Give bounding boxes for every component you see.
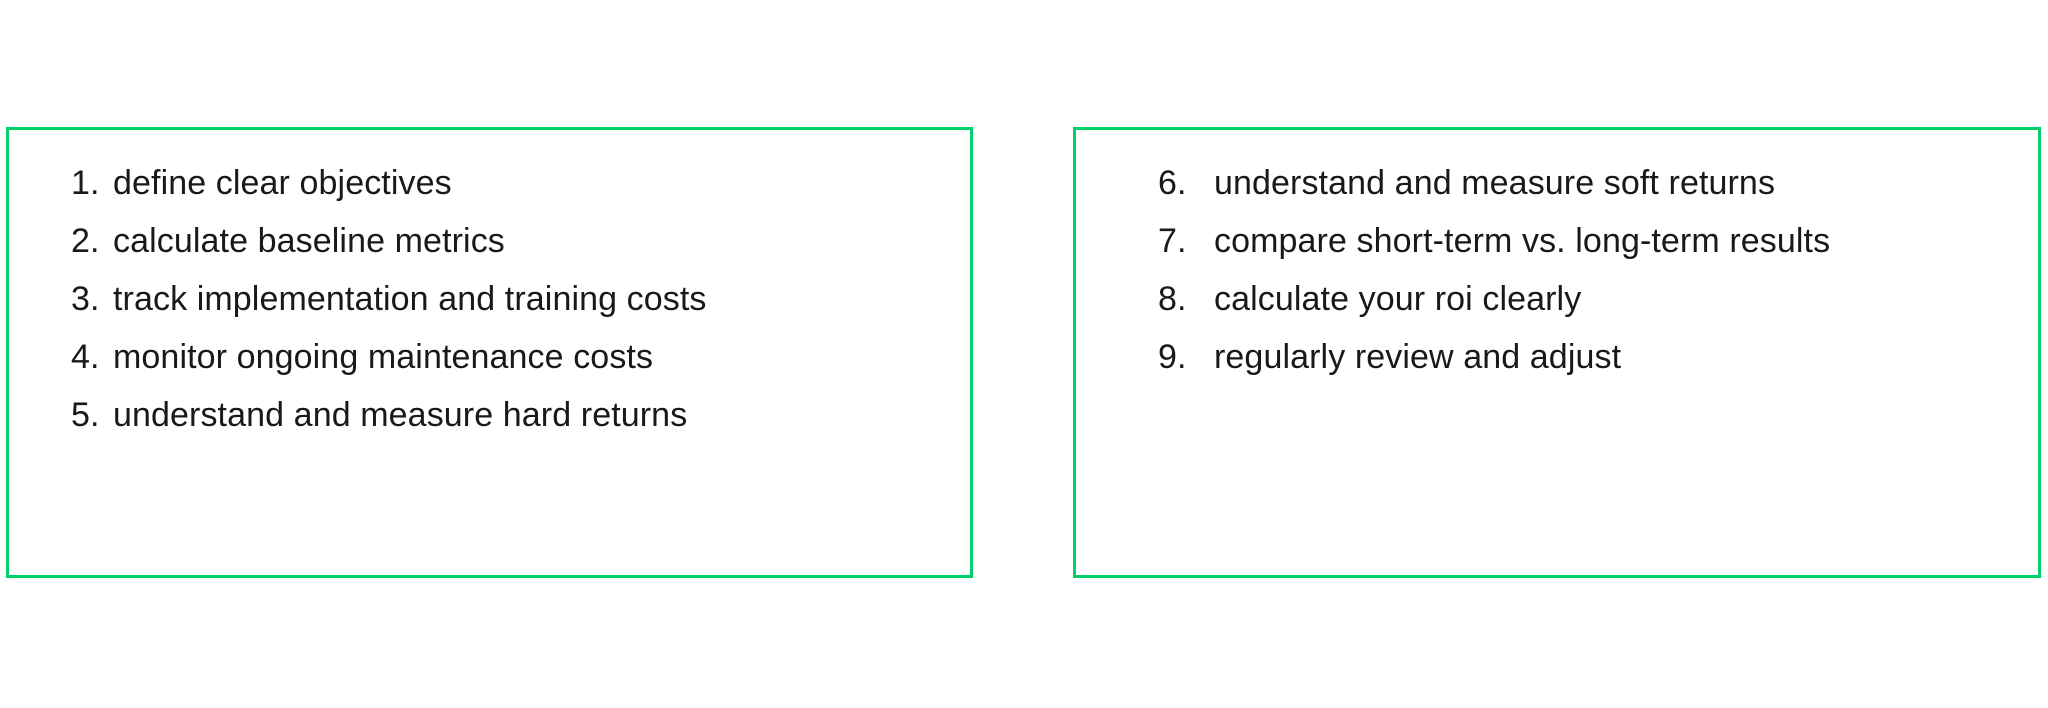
- list-item-text: compare short-term vs. long-term results: [1214, 212, 1938, 270]
- list-item-number: 1.: [71, 154, 113, 212]
- list-item-number: 9.: [1158, 328, 1214, 386]
- list-item-number: 3.: [71, 270, 113, 328]
- list-item: 9. regularly review and adjust: [1158, 328, 2038, 386]
- list-item-number: 7.: [1158, 212, 1214, 270]
- list-item: 7. compare short-term vs. long-term resu…: [1158, 212, 2038, 270]
- list-item: 3. track implementation and training cos…: [71, 270, 970, 328]
- list-item-number: 2.: [71, 212, 113, 270]
- list-item-text: understand and measure hard returns: [113, 386, 970, 444]
- list-item: 4. monitor ongoing maintenance costs: [71, 328, 970, 386]
- list-item-number: 5.: [71, 386, 113, 444]
- list-item-text: understand and measure soft returns: [1214, 154, 1938, 212]
- left-panel: 1. define clear objectives 2. calculate …: [6, 127, 973, 578]
- list-item-number: 6.: [1158, 154, 1214, 212]
- list-item-text: calculate baseline metrics: [113, 212, 970, 270]
- list-item: 5. understand and measure hard returns: [71, 386, 970, 444]
- list-item-text: calculate your roi clearly: [1214, 270, 1938, 328]
- right-panel: 6. understand and measure soft returns 7…: [1073, 127, 2041, 578]
- list-item: 8. calculate your roi clearly: [1158, 270, 2038, 328]
- list-item-number: 4.: [71, 328, 113, 386]
- right-panel-list: 6. understand and measure soft returns 7…: [1076, 154, 2038, 386]
- list-item: 1. define clear objectives: [71, 154, 970, 212]
- two-column-checklist: 1. define clear objectives 2. calculate …: [0, 0, 2048, 708]
- list-item: 2. calculate baseline metrics: [71, 212, 970, 270]
- list-item-number: 8.: [1158, 270, 1214, 328]
- left-panel-list: 1. define clear objectives 2. calculate …: [9, 154, 970, 444]
- list-item-text: regularly review and adjust: [1214, 328, 1938, 386]
- list-item-text: define clear objectives: [113, 154, 970, 212]
- list-item: 6. understand and measure soft returns: [1158, 154, 2038, 212]
- list-item-text: track implementation and training costs: [113, 270, 970, 328]
- list-item-text: monitor ongoing maintenance costs: [113, 328, 970, 386]
